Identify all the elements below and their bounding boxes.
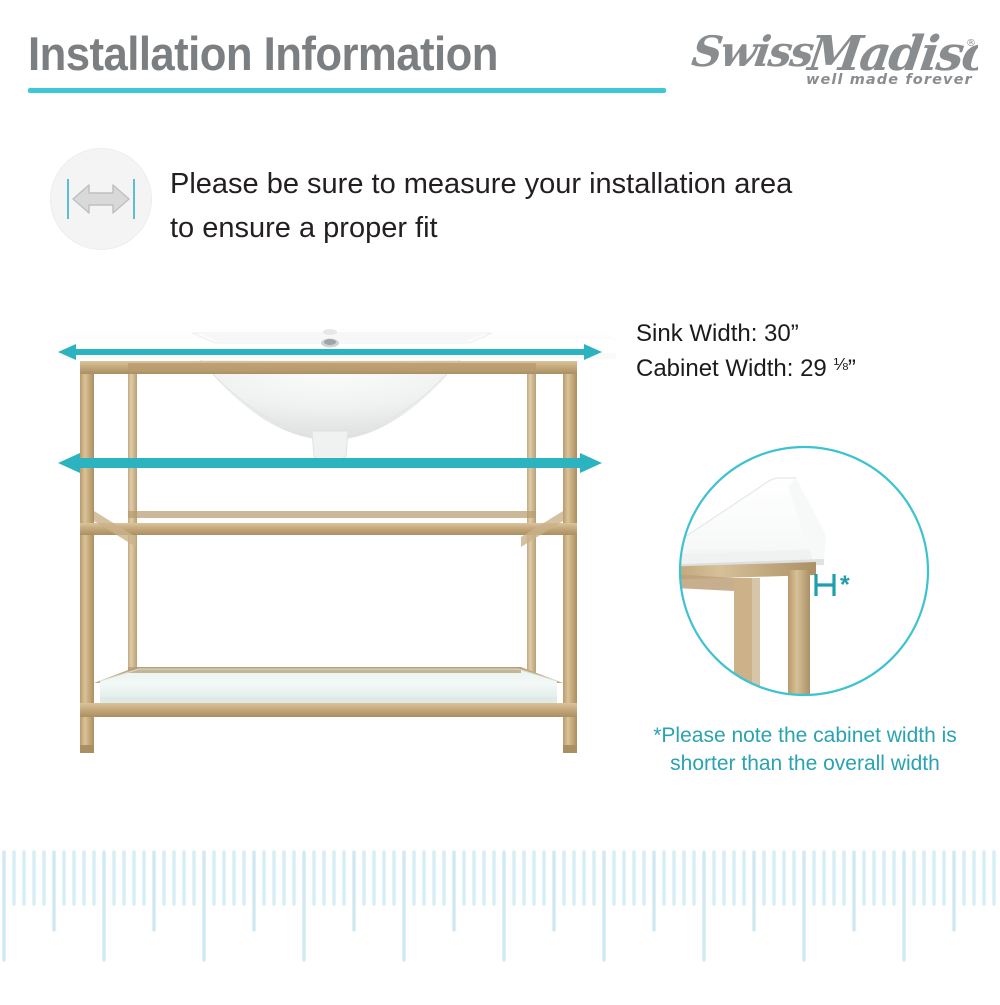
dimension-list: Sink Width: 30” Cabinet Width: 29 ⅛”: [636, 318, 856, 384]
svg-text:well made forever: well made forever: [806, 72, 973, 88]
svg-text:®: ®: [966, 38, 976, 49]
svg-text:Swiss: Swiss: [689, 26, 817, 76]
title-underline: [28, 88, 666, 93]
product-illustration: [40, 305, 620, 775]
measure-note-row: Please be sure to measure your installat…: [50, 148, 810, 253]
cabinet-overhang-detail-icon: *: [648, 415, 968, 705]
page-title: Installation Information: [28, 26, 498, 81]
cabinet-width-footnote: *Please note the cabinet width is shorte…: [630, 722, 980, 778]
sink-width-line: Sink Width: 30”: [636, 318, 856, 349]
brand-logo: .sm-script{font-family:"DejaVu Serif",se…: [678, 26, 978, 88]
double-arrow-horizontal-icon: [51, 149, 151, 249]
detail-callout: *: [648, 415, 968, 705]
footnote-line-2: shorter than the overall width: [630, 750, 980, 778]
footnote-line-1: *Please note the cabinet width is: [630, 722, 980, 750]
overhang-dimension-marker: [816, 574, 834, 596]
installation-information-page: Installation Information .sm-script{font…: [0, 0, 1000, 1000]
page-header: Installation Information .sm-script{font…: [0, 0, 1000, 110]
cabinet-width-line: Cabinet Width: 29 ⅛”: [636, 349, 856, 384]
measure-icon-badge: [50, 148, 152, 250]
ruler-ticks-icon: [0, 840, 1000, 1000]
swiss-madison-logo-icon: .sm-script{font-family:"DejaVu Serif",se…: [678, 26, 978, 88]
measure-note-text: Please be sure to measure your installat…: [170, 162, 810, 250]
cabinet-width-unit: ”: [848, 355, 856, 382]
cabinet-width-fraction: ⅛: [833, 354, 847, 374]
overhang-asterisk: *: [840, 571, 850, 599]
ruler-decoration: [0, 840, 1000, 1000]
cabinet-width-label: Cabinet Width:: [636, 355, 793, 382]
cabinet-width-whole: 29: [800, 355, 827, 382]
console-sink-vanity-icon: [40, 305, 620, 775]
